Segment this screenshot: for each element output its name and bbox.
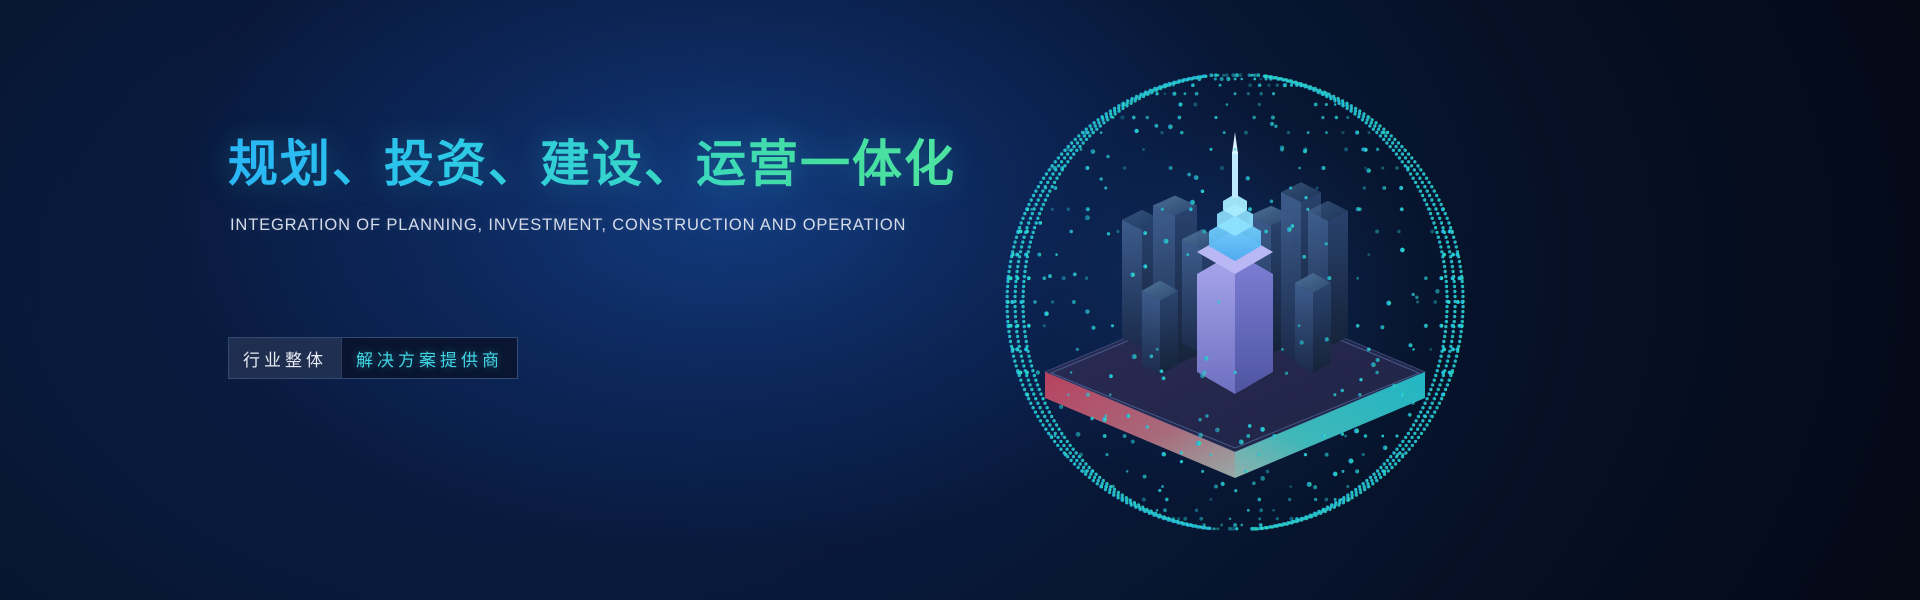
hero-banner: 规划、投资、建设、运营一体化 INTEGRATION OF PLANNING, … — [0, 0, 1920, 600]
page-title: 规划、投资、建设、运营一体化 — [228, 132, 988, 196]
tagline-badge: 行业整体 解决方案提供商 — [228, 337, 518, 379]
hero-text-block: 规划、投资、建设、运营一体化 INTEGRATION OF PLANNING, … — [228, 132, 988, 235]
badge-right-label: 解决方案提供商 — [341, 338, 517, 378]
badge-left-label: 行业整体 — [229, 338, 341, 378]
smart-city-globe-graphic — [955, 20, 1515, 580]
page-subtitle: INTEGRATION OF PLANNING, INVESTMENT, CON… — [230, 216, 988, 235]
